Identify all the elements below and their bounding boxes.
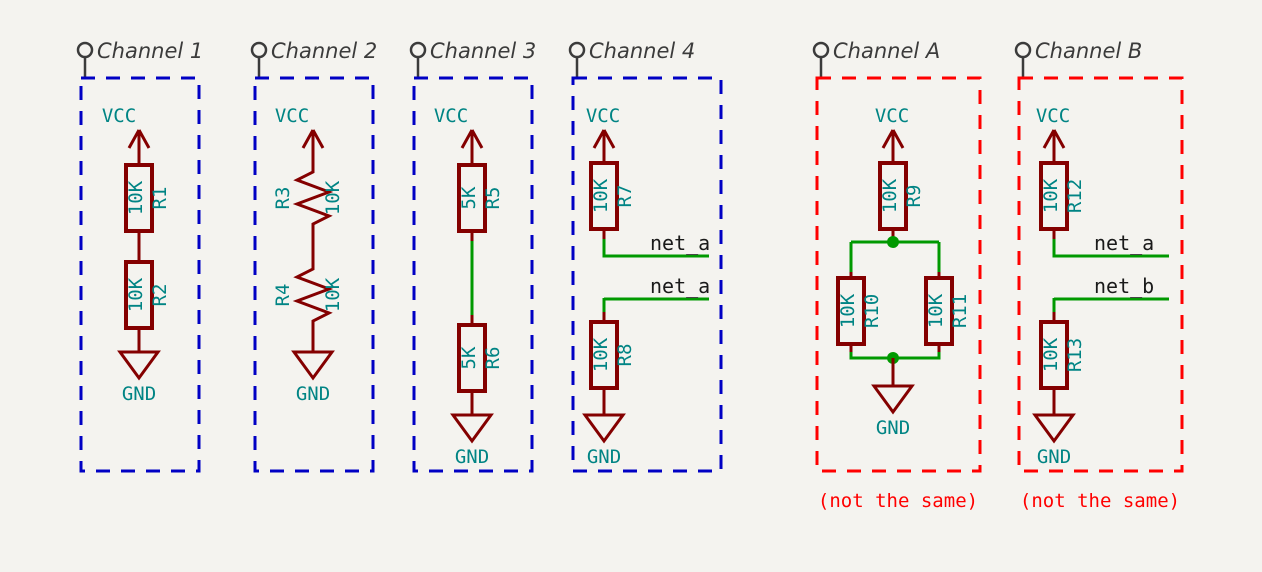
resistor-value-r6: 5K	[458, 346, 480, 369]
net-label-a-b[interactable]: net_a	[1094, 231, 1154, 255]
resistor-value-r10: 10K	[837, 293, 859, 328]
schematic-drawing: Channel 1 VCC 10K R1 10K R2 GND Channel …	[0, 0, 1262, 572]
gnd-symbol-icon-b	[1035, 415, 1073, 441]
net-label-b-b[interactable]: net_b	[1094, 274, 1154, 298]
group-title-channel-2: Channel 2	[271, 39, 377, 63]
vcc-arrow-icon	[462, 130, 482, 165]
sheet-pin-circle-icon	[252, 43, 266, 57]
resistor-value-r11: 10K	[925, 293, 947, 328]
schematic-canvas: Channel 1 VCC 10K R1 10K R2 GND Channel …	[0, 0, 1262, 572]
sheet-pin-stub	[821, 57, 831, 78]
ground-label-1: GND	[122, 383, 156, 405]
power-label-vcc-3: VCC	[434, 105, 468, 127]
sheet-pin-stub	[418, 57, 428, 78]
sheet-pin-circle-icon	[570, 43, 584, 57]
resistor-ref-r9: R9	[903, 185, 925, 208]
group-channel-4[interactable]: Channel 4 VCC 10K R7 net_a net_a 10K R8 …	[570, 39, 721, 471]
sheet-pin-stub	[85, 57, 95, 78]
annotation-note-a: (not the same)	[818, 490, 978, 512]
resistor-ref-r7: R7	[614, 185, 636, 208]
gnd-symbol-icon-3	[453, 415, 491, 441]
resistor-value-r13: 10K	[1040, 337, 1062, 372]
resistor-value-r5: 5K	[458, 186, 480, 209]
power-label-vcc-2: VCC	[275, 105, 309, 127]
ground-label-4: GND	[587, 446, 621, 468]
wire-net-a-bottom[interactable]	[604, 298, 709, 312]
group-title-channel-3: Channel 3	[430, 39, 536, 63]
resistor-ref-r6: R6	[482, 347, 504, 370]
ground-label-a: GND	[876, 417, 910, 439]
resistor-value-r4: 10K	[322, 277, 344, 312]
power-label-vcc-a: VCC	[875, 105, 909, 127]
resistor-ref-r5: R5	[482, 187, 504, 210]
group-channel-a[interactable]: Channel A VCC 10K R9 10K R10 10K R11 GND…	[814, 39, 980, 512]
vcc-arrow-icon	[883, 130, 903, 163]
junction-dot-top	[887, 236, 899, 248]
group-title-channel-b: Channel B	[1035, 39, 1142, 63]
resistor-value-r2: 10K	[125, 277, 147, 312]
resistor-value-r9: 10K	[879, 178, 901, 213]
gnd-symbol-icon-1	[120, 352, 158, 378]
power-label-vcc-4: VCC	[586, 105, 620, 127]
gnd-symbol-icon-4	[585, 415, 623, 441]
ground-label-3: GND	[455, 446, 489, 468]
resistor-ref-r3: R3	[272, 187, 294, 210]
resistor-ref-r11: R11	[949, 294, 971, 328]
sheet-pin-circle-icon	[1016, 43, 1030, 57]
group-channel-3[interactable]: Channel 3 VCC 5K R5 5K R6 GND	[411, 39, 536, 471]
group-channel-1[interactable]: Channel 1 VCC 10K R1 10K R2 GND	[78, 39, 203, 471]
sheet-pin-stub	[259, 57, 269, 78]
resistor-value-r1: 10K	[125, 180, 147, 215]
resistor-ref-r4: R4	[272, 284, 294, 307]
net-label-a-top[interactable]: net_a	[650, 231, 710, 255]
vcc-arrow-icon	[303, 130, 323, 163]
sheet-pin-stub	[1023, 57, 1033, 78]
resistor-ref-r8: R8	[614, 344, 636, 367]
annotation-note-b: (not the same)	[1020, 490, 1180, 512]
gnd-symbol-icon-a	[874, 386, 912, 412]
resistor-value-r3: 10K	[322, 180, 344, 215]
sheet-pin-circle-icon	[78, 43, 92, 57]
power-label-vcc-1: VCC	[102, 105, 136, 127]
ground-label-b: GND	[1037, 446, 1071, 468]
group-title-channel-a: Channel A	[833, 39, 940, 63]
resistor-value-r12: 10K	[1040, 178, 1062, 213]
vcc-arrow-icon	[1044, 130, 1064, 163]
power-label-vcc-b: VCC	[1036, 105, 1070, 127]
net-label-a-bottom[interactable]: net_a	[650, 274, 710, 298]
resistor-value-r8: 10K	[590, 337, 612, 372]
group-title-channel-1: Channel 1	[97, 39, 203, 63]
group-channel-b[interactable]: Channel B VCC 10K R12 net_a net_b 10K R1…	[1016, 39, 1182, 512]
ground-label-2: GND	[296, 383, 330, 405]
sheet-pin-circle-icon	[411, 43, 425, 57]
resistor-ref-r10: R10	[861, 294, 883, 328]
sheet-pin-circle-icon	[814, 43, 828, 57]
vcc-arrow-icon	[129, 130, 149, 165]
resistor-ref-r13: R13	[1064, 338, 1086, 372]
vcc-arrow-icon	[594, 130, 614, 163]
sheet-pin-stub	[577, 57, 587, 78]
group-channel-2[interactable]: Channel 2 VCC R3 10K R4 10K GND	[252, 39, 377, 471]
group-title-channel-4: Channel 4	[589, 39, 695, 63]
gnd-symbol-icon-2	[294, 352, 332, 378]
resistor-value-r7: 10K	[590, 178, 612, 213]
resistor-ref-r12: R12	[1064, 179, 1086, 213]
resistor-ref-r1: R1	[149, 187, 171, 210]
resistor-ref-r2: R2	[149, 284, 171, 307]
wire-net-b-b[interactable]	[1054, 298, 1169, 312]
